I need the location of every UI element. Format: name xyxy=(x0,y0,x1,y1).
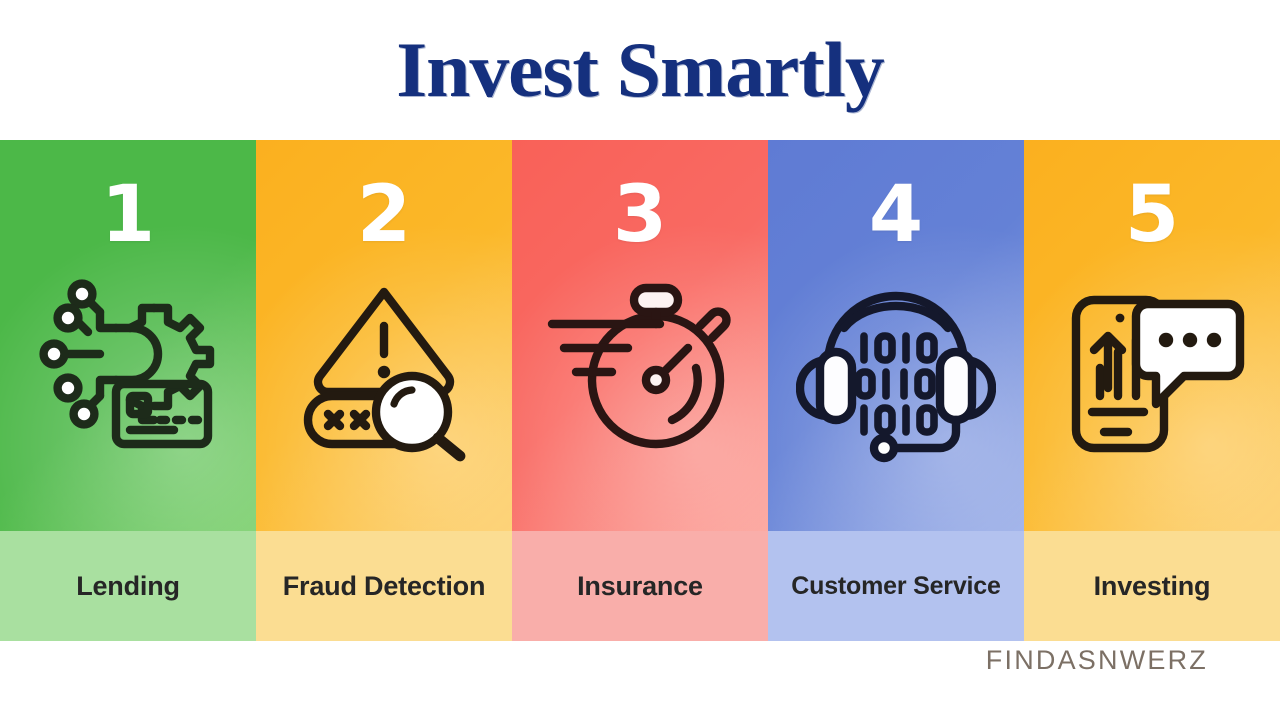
title-bar: Invest Smartly xyxy=(0,0,1280,140)
step-2-label: Fraud Detection xyxy=(283,571,486,601)
step-column-fraud-detection[interactable]: 2 xyxy=(256,140,512,641)
warning-password-magnifier-icon xyxy=(284,264,484,464)
steps-band: 1 xyxy=(0,140,1280,641)
step-4-top: 4 xyxy=(768,140,1024,531)
step-column-insurance[interactable]: 3 xyxy=(512,140,768,641)
phone-chart-chat-bubble-icon xyxy=(1052,264,1252,464)
stopwatch-speed-icon xyxy=(540,264,740,464)
watermark-bar: FINDASNWERZ xyxy=(0,641,1280,720)
step-4-label: Customer Service xyxy=(791,572,1000,600)
step-2-label-band: Fraud Detection xyxy=(256,531,512,641)
step-5-number: 5 xyxy=(1125,176,1179,254)
step-column-investing[interactable]: 5 xyxy=(1024,140,1280,641)
step-5-label: Investing xyxy=(1094,571,1211,601)
step-2-top: 2 xyxy=(256,140,512,531)
step-1-label: Lending xyxy=(76,571,180,601)
step-3-top: 3 xyxy=(512,140,768,531)
watermark-text: FINDASNWERZ xyxy=(986,645,1208,676)
step-3-number: 3 xyxy=(613,176,667,254)
page-title: Invest Smartly xyxy=(396,31,883,109)
step-column-lending[interactable]: 1 xyxy=(0,140,256,641)
step-5-label-band: Investing xyxy=(1024,531,1280,641)
step-4-label-band: Customer Service xyxy=(768,531,1024,641)
step-1-top: 1 xyxy=(0,140,256,531)
step-1-number: 1 xyxy=(101,176,155,254)
infographic-page: Invest Smartly 1 xyxy=(0,0,1280,720)
headset-binary-icon xyxy=(796,264,996,464)
step-2-number: 2 xyxy=(357,176,411,254)
step-4-number: 4 xyxy=(869,176,923,254)
step-1-label-band: Lending xyxy=(0,531,256,641)
circuit-gear-credit-card-icon xyxy=(28,264,228,464)
step-3-label: Insurance xyxy=(577,571,703,601)
step-5-top: 5 xyxy=(1024,140,1280,531)
step-3-label-band: Insurance xyxy=(512,531,768,641)
step-column-customer-service[interactable]: 4 xyxy=(768,140,1024,641)
